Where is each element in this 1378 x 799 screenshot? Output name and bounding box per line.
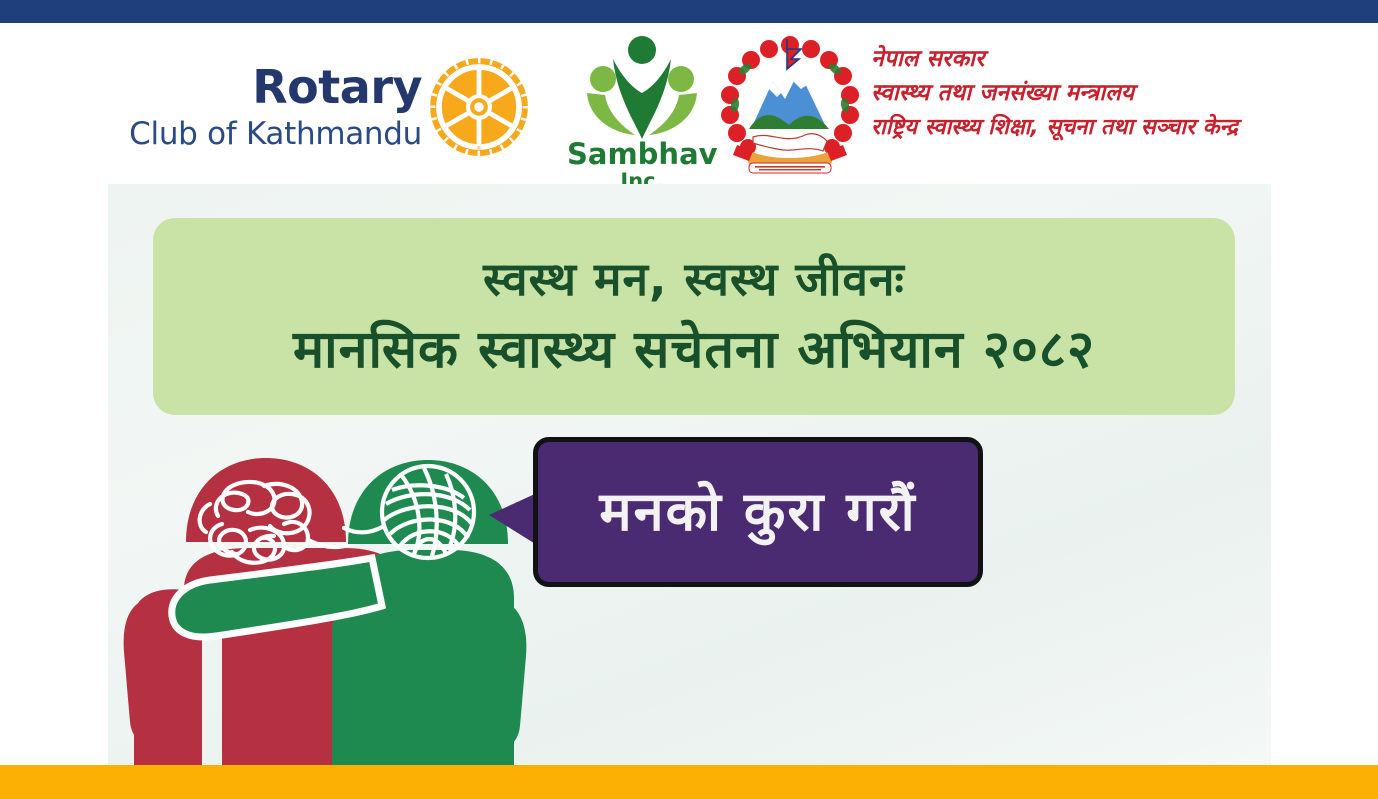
gov-line-1: नेपाल सरकार [871,43,1301,76]
logo-row: Rotary Club of Kathmandu [112,23,1292,184]
bottom-accent-bar [0,765,1378,799]
nepal-government-text: नेपाल सरकार स्वास्थ्य तथा जनसंख्या मन्त्… [871,43,1301,145]
speech-bubble-tail [489,493,537,545]
top-accent-bar [0,0,1378,23]
speech-bubble: मनको कुरा गरौं [533,437,983,587]
campaign-title-box: स्वस्थ मन, स्वस्थ जीवनः मानसिक स्वास्थ्य… [153,218,1235,415]
speech-bubble-body: मनको कुरा गरौं [533,437,983,587]
campaign-title-line-1: स्वस्थ मन, स्वस्थ जीवनः [483,246,905,312]
rotary-name: Rotary [112,61,422,113]
two-people-illustration [114,430,534,765]
sambhav-people-icon [577,35,707,143]
rotary-wordmark: Rotary Club of Kathmandu [112,61,422,153]
sambhav-name: Sambhav [567,139,717,170]
campaign-title-line-2: मानसिक स्वास्थ्य सचेतना अभियान २०८२ [293,312,1095,388]
slide-content-panel: स्वस्थ मन, स्वस्थ जीवनः मानसिक स्वास्थ्य… [108,184,1271,765]
nepal-government-logo: नेपाल सरकार स्वास्थ्य तथा जनसंख्या मन्त्… [715,25,1295,190]
rotary-logo: Rotary Club of Kathmandu [112,61,532,181]
nepal-emblem-icon [715,33,865,181]
sambhav-logo: Sambhav Inc. [567,35,717,203]
rotary-wheel-icon: ® [427,55,531,159]
logo-header: Rotary Club of Kathmandu [0,23,1378,184]
gov-line-3: राष्ट्रिय स्वास्थ्य शिक्षा, सूचना तथा सञ… [871,111,1301,145]
illustration-svg [114,430,534,765]
speech-bubble-text: मनको कुरा गरौं [599,472,916,546]
svg-text:®: ® [476,145,482,153]
gov-line-2: स्वास्थ्य तथा जनसंख्या मन्त्रालय [871,76,1301,111]
rotary-club-name: Club of Kathmandu [112,115,422,153]
